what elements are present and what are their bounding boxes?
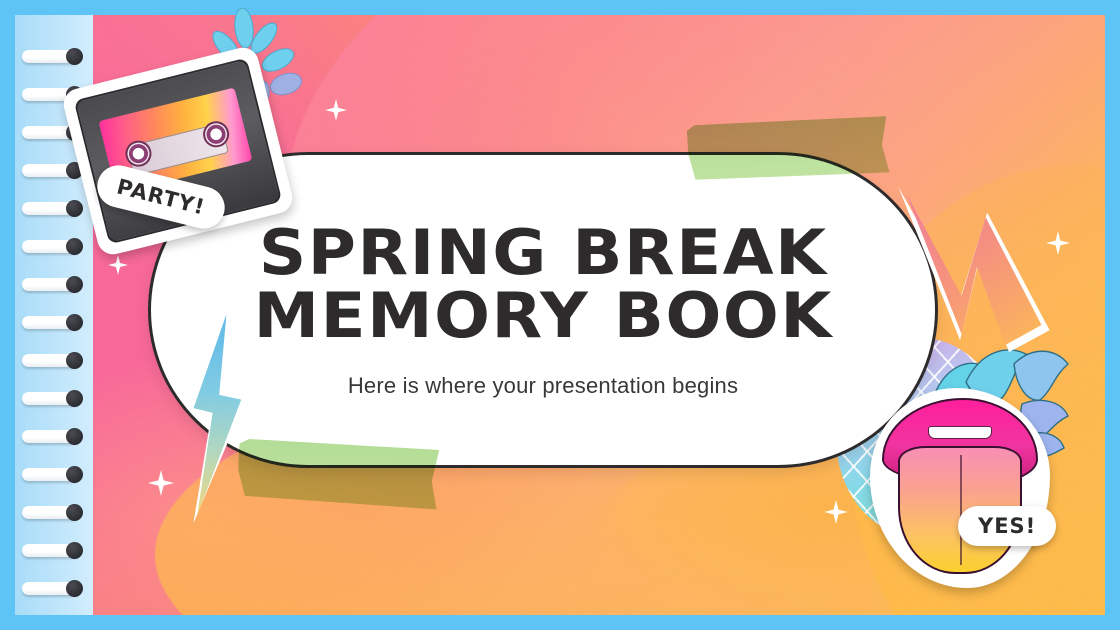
- spiral-ring: [22, 278, 80, 291]
- spiral-ring: [22, 354, 80, 367]
- yes-label: YES!: [978, 514, 1036, 538]
- lightning-bolt-sticker-right: [892, 167, 1055, 367]
- spiral-ring: [22, 316, 80, 329]
- spiral-ring: [22, 240, 80, 253]
- spiral-ring: [22, 582, 80, 595]
- page-subtitle: Here is where your presentation begins: [348, 373, 738, 399]
- spiral-ring: [22, 430, 80, 443]
- title-line-1: SPRING BREAK: [259, 216, 828, 289]
- mouth-tongue-sticker: YES!: [870, 388, 1050, 588]
- presentation-slide: SPRING BREAK MEMORY BOOK Here is where y…: [0, 0, 1120, 630]
- teeth-shape: [928, 426, 993, 439]
- spiral-ring: [22, 50, 80, 63]
- title-line-2: MEMORY BOOK: [253, 284, 832, 347]
- spiral-ring: [22, 544, 80, 557]
- page-title: SPRING BREAK MEMORY BOOK: [253, 221, 832, 347]
- washi-tape-top: [687, 114, 890, 183]
- spiral-ring: [22, 468, 80, 481]
- spiral-ring: [22, 392, 80, 405]
- bolt-fill-left: [176, 313, 257, 517]
- bolt-fill-right: [900, 176, 1046, 359]
- lightning-bolt-sticker-left: [168, 304, 266, 525]
- spiral-ring: [22, 506, 80, 519]
- yes-label-bubble: YES!: [958, 506, 1056, 546]
- spiral-ring: [22, 164, 80, 177]
- spiral-ring: [22, 202, 80, 215]
